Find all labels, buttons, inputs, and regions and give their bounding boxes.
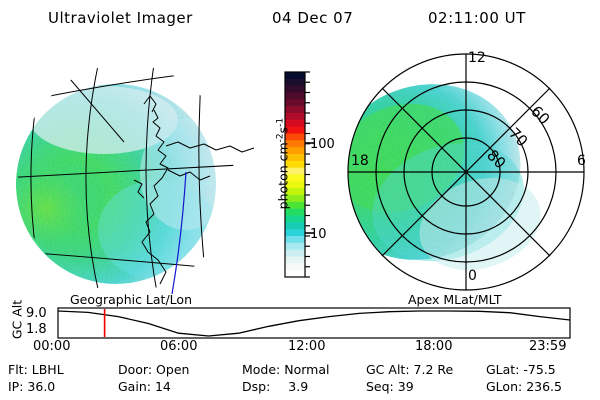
status-mode-value: Normal — [284, 362, 329, 377]
colorbar-label-mid: s — [276, 127, 291, 134]
orbit-xtick-3: 18:00 — [415, 339, 452, 354]
status-door: Door: Open — [118, 362, 189, 377]
status-flt-value: LBHL — [32, 362, 64, 377]
polar-dial-panel[interactable]: 60 70 80 12 18 6 0 — [340, 46, 592, 294]
colorbar-label-main: photon cm — [276, 142, 291, 209]
status-seq-value: 39 — [398, 379, 414, 394]
observation-time: 02:11:00 UT — [428, 9, 526, 27]
colorbar-swatch — [262, 60, 338, 292]
status-glon: GLon: 236.5 — [486, 379, 562, 394]
status-ip-label: IP: — [8, 379, 23, 394]
caption-geographic: Geographic Lat/Lon — [70, 292, 192, 307]
status-gcalt: GC Alt: 7.2 Re — [366, 362, 453, 377]
orbit-ytick-max: 9.0 — [26, 306, 47, 321]
mlt-spokes — [348, 54, 584, 290]
status-glat-value: -75.5 — [523, 362, 555, 377]
status-gain: Gain: 14 — [118, 379, 171, 394]
colorbar-tick-10: 10 — [310, 227, 327, 242]
colorbar-label-exp2: -1 — [275, 118, 285, 127]
mlt-label-18: 18 — [351, 153, 369, 169]
observation-date: 04 Dec 07 — [272, 9, 353, 27]
status-dsp: Dsp: 3.9 — [242, 379, 308, 394]
status-glon-value: 236.5 — [526, 379, 562, 394]
orbit-xtick-2: 12:00 — [288, 339, 325, 354]
orbit-xtick-1: 06:00 — [160, 339, 197, 354]
status-door-label: Door: — [118, 362, 152, 377]
status-gain-label: Gain: — [118, 379, 151, 394]
status-gcalt-value: 7.2 Re — [414, 362, 454, 377]
colorbar-label-exp1: -2 — [275, 133, 285, 142]
colorbar-tick-marks — [305, 72, 314, 277]
orbit-ytick-min: 1.8 — [26, 322, 47, 337]
geographic-image-panel[interactable] — [8, 46, 266, 294]
mlt-label-0: 0 — [468, 268, 477, 284]
caption-apex: Apex MLat/MLT — [408, 292, 502, 307]
mlat-label-60: 60 — [527, 102, 553, 128]
mlt-label-12: 12 — [468, 50, 486, 66]
status-flt-label: Flt: — [8, 362, 28, 377]
status-seq: Seq: 39 — [366, 379, 414, 394]
status-glon-label: GLon: — [486, 379, 522, 394]
orbit-altitude-plot[interactable]: Geographic Lat/Lon Apex MLat/MLT GC Alt … — [0, 292, 600, 354]
status-ip-value: 36.0 — [27, 379, 55, 394]
status-ip: IP: 36.0 — [8, 379, 55, 394]
instrument-title: Ultraviolet Imager — [48, 9, 193, 27]
status-flt: Flt: LBHL — [8, 362, 64, 377]
header: Ultraviolet Imager 04 Dec 07 02:11:00 UT — [0, 0, 600, 40]
polar-dial-svg: 60 70 80 — [340, 46, 592, 294]
colorbar-axis-label: photon cm-2s-1 — [275, 89, 290, 239]
orbit-xtick-4: 23:59 — [529, 339, 566, 354]
orbit-y-axis-label: GC Alt — [10, 297, 25, 343]
mlt-label-6: 6 — [577, 153, 586, 169]
status-mode: Mode: Normal — [242, 362, 330, 377]
uv-imager-display: Ultraviolet Imager 04 Dec 07 02:11:00 UT — [0, 0, 600, 400]
colorbar-panel: photon cm-2s-1 100 10 — [262, 60, 338, 292]
orbit-xtick-0: 00:00 — [33, 339, 70, 354]
status-dsp-label: Dsp: — [242, 379, 270, 394]
status-dsp-value: 3.9 — [288, 379, 308, 394]
status-block: Flt: LBHL Door: Open Mode: Normal GC Alt… — [0, 362, 600, 400]
status-gcalt-label: GC Alt: — [366, 362, 410, 377]
status-mode-label: Mode: — [242, 362, 280, 377]
status-glat-label: GLat: — [486, 362, 519, 377]
status-gain-value: 14 — [155, 379, 171, 394]
status-door-value: Open — [156, 362, 189, 377]
status-glat: GLat: -75.5 — [486, 362, 556, 377]
colorbar-tick-100: 100 — [310, 137, 335, 152]
geographic-globe-svg — [8, 46, 266, 294]
status-seq-label: Seq: — [366, 379, 394, 394]
